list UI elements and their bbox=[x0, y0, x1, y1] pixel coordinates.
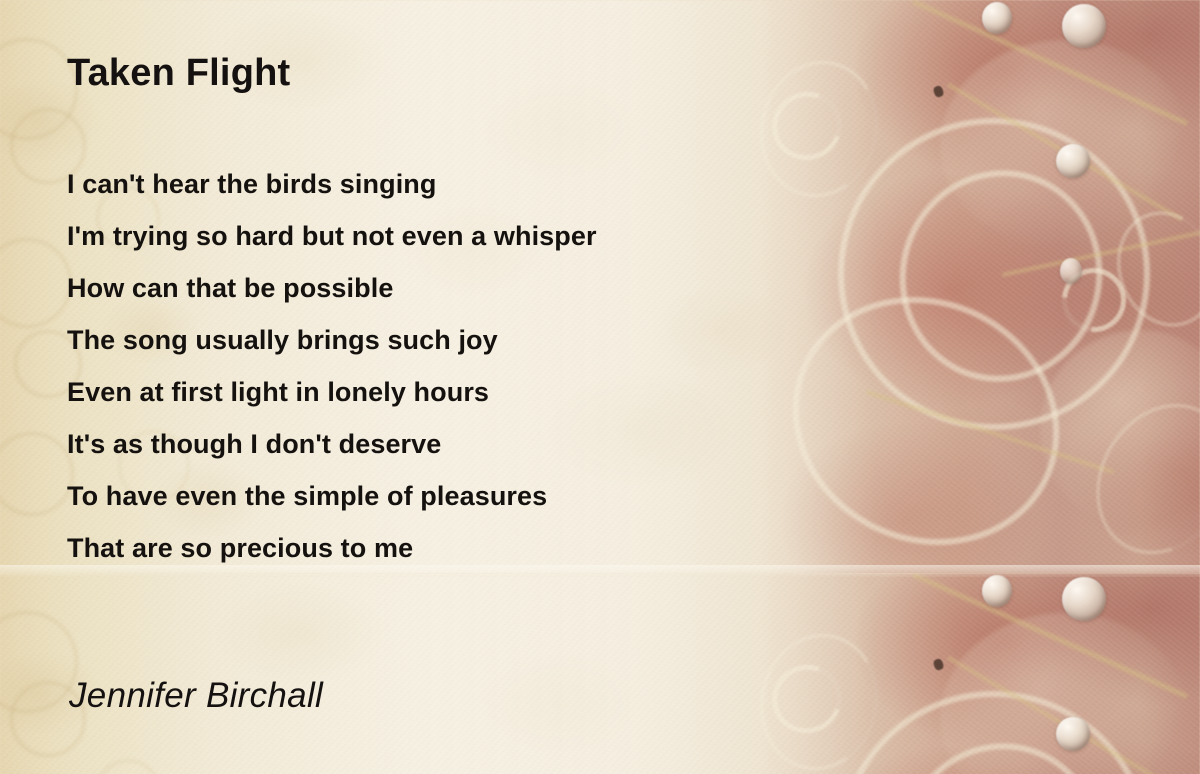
poem-line: To have even the simple of pleasures bbox=[67, 470, 827, 522]
poem-body: I can't hear the birds singing I'm tryin… bbox=[67, 158, 827, 574]
poem-line: That are so precious to me bbox=[67, 522, 827, 574]
poem-image-card: Taken Flight I can't hear the birds sing… bbox=[0, 0, 1200, 774]
page-title: Taken Flight bbox=[67, 52, 290, 95]
poem-line: I can't hear the birds singing bbox=[67, 158, 827, 210]
poem-line: How can that be possible bbox=[67, 262, 827, 314]
poem-line: Even at first light in lonely hours bbox=[67, 366, 827, 418]
author-name: Jennifer Birchall bbox=[69, 676, 323, 716]
poem-line: The song usually brings such joy bbox=[67, 314, 827, 366]
poem-line: It's as though I don't deserve bbox=[67, 418, 827, 470]
poem-line: I'm trying so hard but not even a whispe… bbox=[67, 210, 827, 262]
poem-content: Taken Flight I can't hear the birds sing… bbox=[0, 0, 1200, 774]
